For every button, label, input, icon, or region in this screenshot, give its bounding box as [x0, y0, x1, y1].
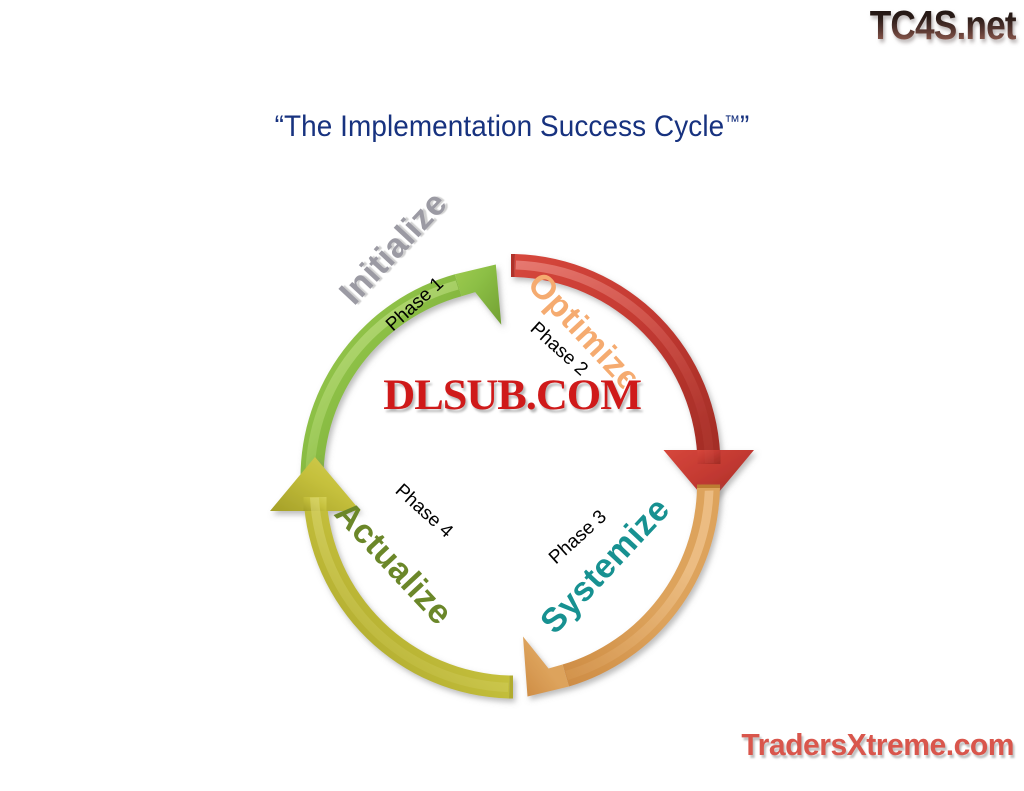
title-open-quote: “ — [275, 110, 284, 143]
title-text: The Implementation Success Cycle — [284, 110, 724, 143]
slide-canvas: TC4S.net “The Implementation Success Cyc… — [0, 0, 1024, 791]
page-title: “The Implementation Success Cycle™” — [36, 110, 988, 144]
brand-logo: TC4S.net — [870, 2, 1016, 49]
cycle-diagram — [242, 200, 782, 740]
title-close-quote: ” — [740, 110, 749, 143]
trademark-symbol: ™ — [724, 112, 740, 131]
arc-phase-3-systemize[interactable] — [523, 485, 720, 697]
footer-watermark: TradersXtreme.com — [741, 727, 1014, 763]
